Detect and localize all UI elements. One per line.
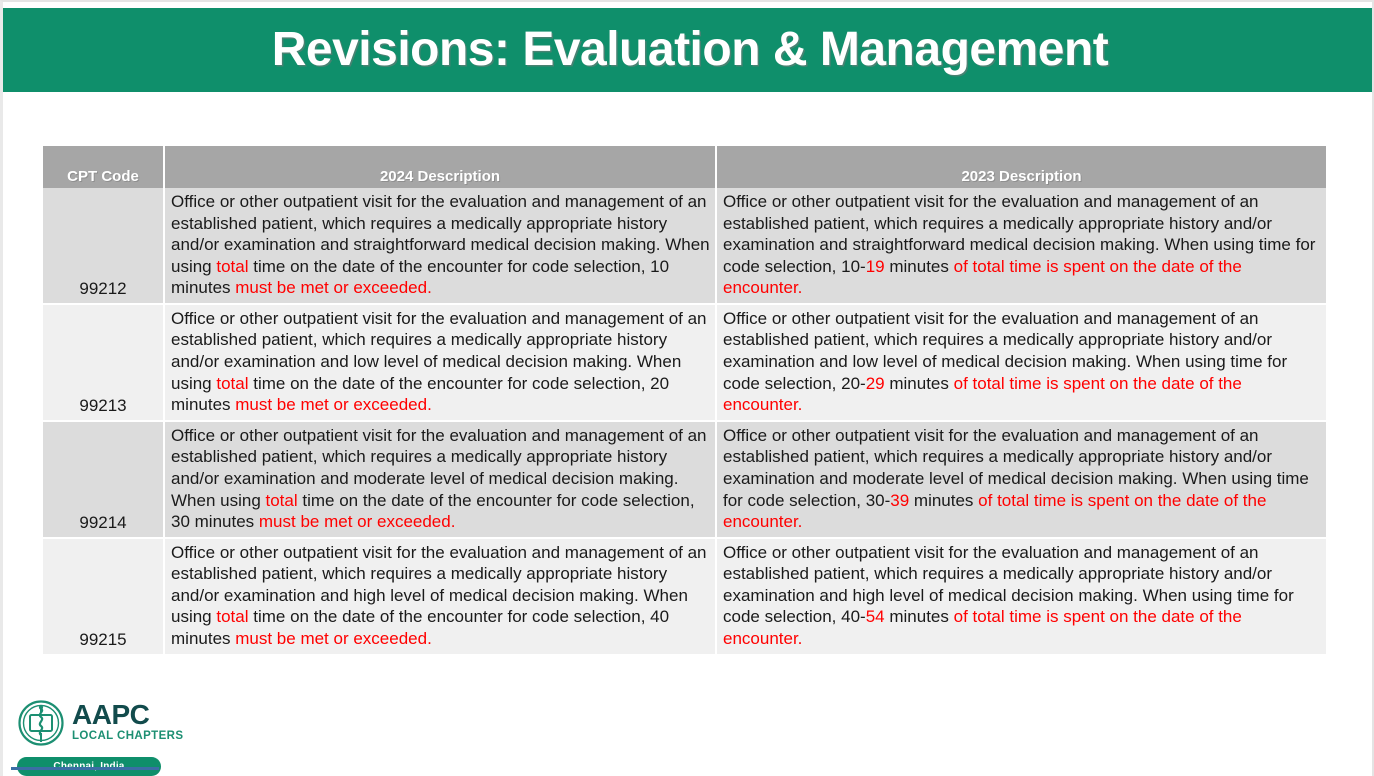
column-header-2023-description: 2023 Description (717, 146, 1326, 188)
aapc-wordmark: AAPC (72, 702, 149, 729)
desc-text-highlight-1: total (266, 491, 298, 510)
cell-2024-description: Office or other outpatient visit for the… (165, 188, 715, 303)
desc-text-plain-2: minutes (885, 257, 954, 276)
desc-text-highlight-2: must be met or exceeded. (259, 512, 456, 531)
cell-2024-description: Office or other outpatient visit for the… (165, 539, 715, 654)
desc-text-plain-2: minutes (885, 607, 954, 626)
cpt-table-container: CPT Code 2024 Description 2023 Descripti… (43, 146, 1326, 654)
cell-2024-description: Office or other outpatient visit for the… (165, 305, 715, 420)
desc-text-highlight-2: must be met or exceeded. (235, 395, 432, 414)
desc-text-highlight-1: 29 (866, 374, 885, 393)
cell-2024-description: Office or other outpatient visit for the… (165, 422, 715, 537)
cell-cpt-code: 99212 (43, 188, 165, 303)
table-row: 99212Office or other outpatient visit fo… (43, 188, 1326, 303)
logo-underline-rule (11, 767, 159, 770)
cell-2023-description: Office or other outpatient visit for the… (717, 539, 1326, 654)
desc-text-plain-2: minutes (909, 491, 978, 510)
cell-2023-description: Office or other outpatient visit for the… (717, 188, 1326, 303)
desc-text-highlight-1: total (216, 257, 248, 276)
cell-cpt-code: 99213 (43, 305, 165, 420)
desc-text-highlight-1: 39 (890, 491, 909, 510)
cell-2023-description: Office or other outpatient visit for the… (717, 305, 1326, 420)
desc-text-highlight-2: must be met or exceeded. (235, 629, 432, 648)
cpt-comparison-table: CPT Code 2024 Description 2023 Descripti… (43, 146, 1326, 654)
desc-text-highlight-1: 19 (866, 257, 885, 276)
aapc-tagline: LOCAL CHAPTERS (72, 730, 183, 743)
cell-2023-description: Office or other outpatient visit for the… (717, 422, 1326, 537)
column-header-cpt-code: CPT Code (43, 146, 165, 188)
cell-cpt-code: 99214 (43, 422, 165, 537)
title-banner: Revisions: Evaluation & Management (3, 8, 1374, 92)
desc-text-plain-2: minutes (885, 374, 954, 393)
cell-cpt-code: 99215 (43, 539, 165, 654)
desc-text-highlight-1: 54 (866, 607, 885, 626)
aapc-emblem-icon (17, 699, 65, 752)
table-header-row: CPT Code 2024 Description 2023 Descripti… (43, 146, 1326, 188)
aapc-logo: AAPC LOCAL CHAPTERS Chennai, India (17, 699, 207, 761)
slide-canvas: Revisions: Evaluation & Management CPT C… (0, 0, 1374, 776)
table-row: 99213Office or other outpatient visit fo… (43, 305, 1326, 420)
desc-text-highlight-1: total (216, 374, 248, 393)
desc-text-highlight-1: total (216, 607, 248, 626)
page-title: Revisions: Evaluation & Management (272, 26, 1109, 74)
table-row: 99215Office or other outpatient visit fo… (43, 539, 1326, 654)
table-row: 99214Office or other outpatient visit fo… (43, 422, 1326, 537)
desc-text-highlight-2: must be met or exceeded. (235, 278, 432, 297)
table-body: 99212Office or other outpatient visit fo… (43, 188, 1326, 654)
column-header-2024-description: 2024 Description (165, 146, 715, 188)
